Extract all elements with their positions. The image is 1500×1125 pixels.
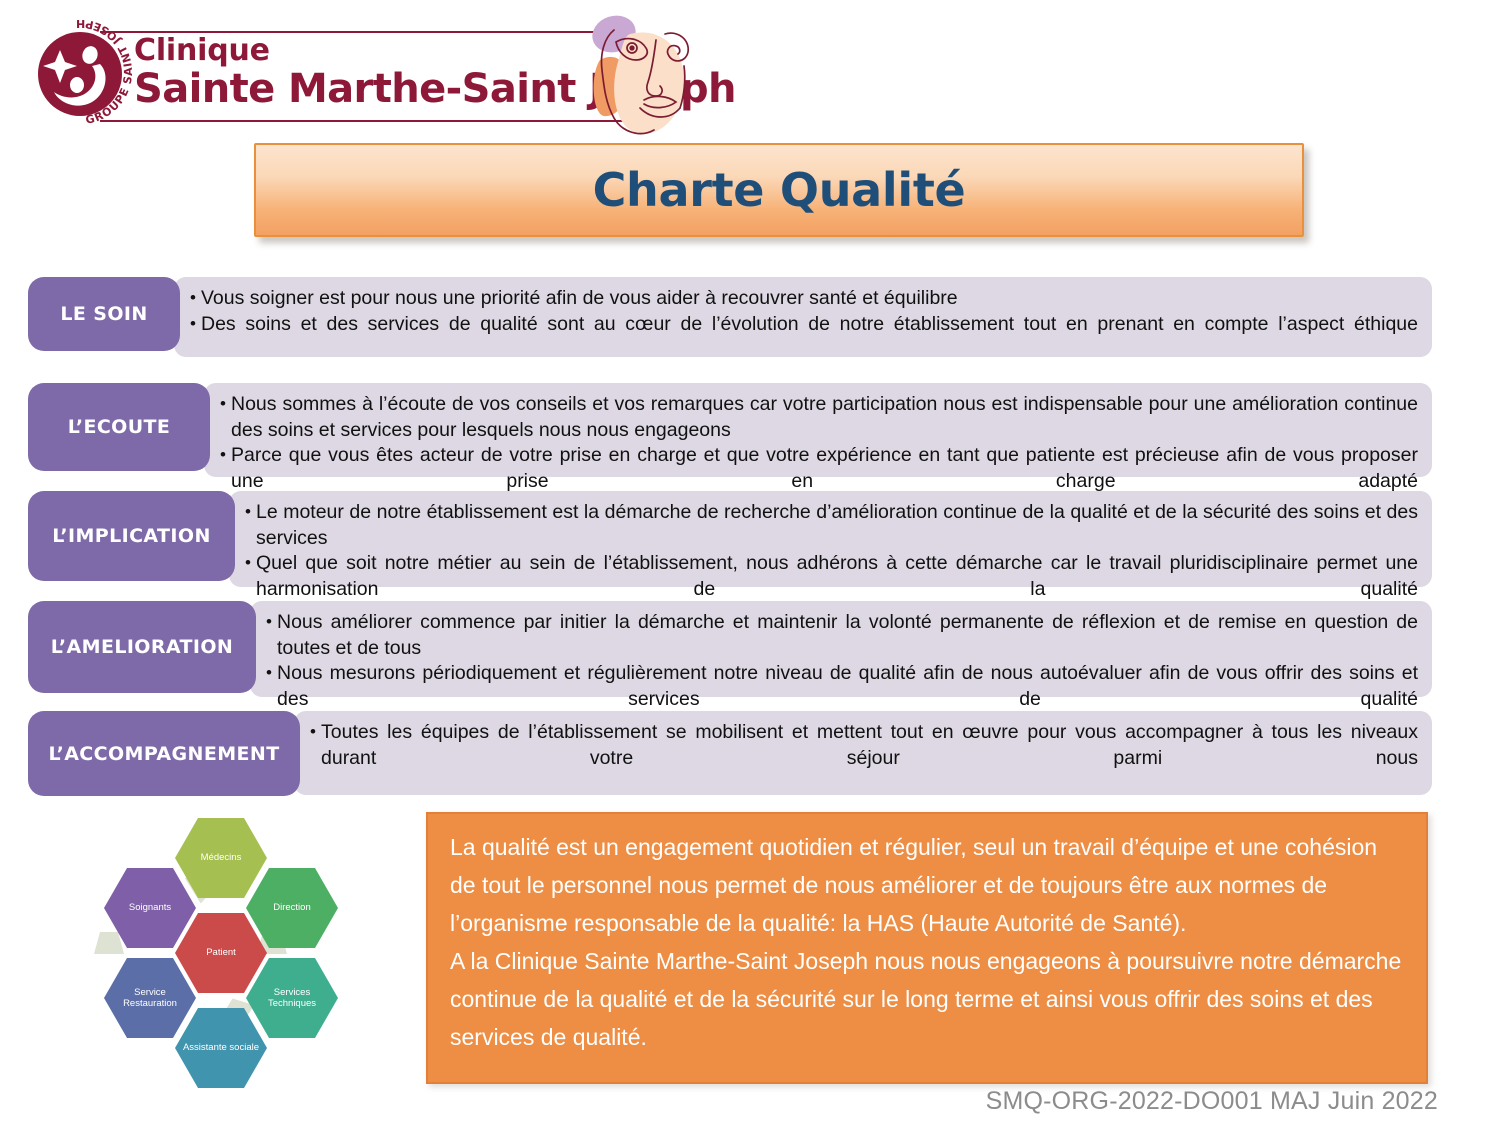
principle-label-text: LE SOIN — [60, 303, 147, 325]
logo-line-name: Sainte Marthe-Saint Joseph — [134, 67, 604, 112]
bullet-list: Vous soigner est pour nous une priorité … — [190, 286, 1418, 363]
hex-connector — [94, 932, 124, 954]
hex-node-label: Assistante sociale — [179, 1042, 263, 1054]
stylized-face-icon — [570, 4, 720, 144]
logo-rule-bottom — [100, 120, 634, 122]
logo-wordmark: Clinique Sainte Marthe-Saint Joseph — [134, 34, 604, 112]
principle-content: Vous soigner est pour nous une priorité … — [174, 277, 1432, 357]
hex-node-label: Soignants — [125, 902, 175, 914]
hex-node-label: Patient — [202, 947, 240, 959]
principle-label-text: L’ECOUTE — [68, 416, 171, 438]
commitment-paragraph: A la Clinique Sainte Marthe-Saint Joseph… — [450, 942, 1404, 1056]
hex-node-services-techniques: Services Techniques — [246, 958, 338, 1038]
principle-label-limplication: L’IMPLICATION — [28, 491, 235, 581]
saint-joseph-emblem-icon: GROUPE SAINT JOSEPH — [14, 6, 146, 138]
logo-line-clinique: Clinique — [134, 34, 604, 67]
principle-label-text: L’IMPLICATION — [52, 525, 211, 547]
bullet-item: Vous soigner est pour nous une priorité … — [190, 286, 1418, 312]
bullet-item: Nous sommes à l’écoute de vos conseils e… — [220, 392, 1418, 443]
commitment-paragraph: La qualité est un engagement quotidien e… — [450, 828, 1404, 942]
commitment-statement-box: La qualité est un engagement quotidien e… — [426, 812, 1428, 1084]
hex-node-patient: Patient — [175, 913, 267, 993]
page-title: Charte Qualité — [593, 163, 966, 217]
bullet-item: Des soins et des services de qualité son… — [190, 312, 1418, 363]
bullet-item: Toutes les équipes de l’établissement se… — [310, 720, 1418, 797]
principle-label-lamelioration: L’AMELIORATION — [28, 601, 256, 693]
principle-content: Toutes les équipes de l’établissement se… — [294, 711, 1432, 795]
principle-label-text: L’ACCOMPAGNEMENT — [48, 743, 279, 765]
hex-node-label: Médecins — [197, 852, 246, 864]
principle-content: Nous sommes à l’écoute de vos conseils e… — [204, 383, 1432, 477]
stakeholder-hex-diagram: Médecins Direction Services Techniques A… — [58, 812, 408, 1098]
hex-node-service-restauration: Service Restauration — [104, 958, 196, 1038]
hex-node-direction: Direction — [246, 868, 338, 948]
hex-node-label: Services Techniques — [246, 987, 338, 1010]
hex-node-medecins: Médecins — [175, 818, 267, 898]
principle-label-lecoute: L’ECOUTE — [28, 383, 210, 471]
hex-node-label: Direction — [269, 902, 315, 914]
bullet-item: Nous améliorer commence par initier la d… — [266, 610, 1418, 661]
bullet-item: Le moteur de notre établissement est la … — [245, 500, 1418, 551]
principle-label-laccompagnement: L’ACCOMPAGNEMENT — [28, 711, 300, 796]
principle-label-le-soin: LE SOIN — [28, 277, 180, 351]
document-reference: SMQ-ORG-2022-DO001 MAJ Juin 2022 — [986, 1087, 1438, 1116]
hex-node-label: Service Restauration — [104, 987, 196, 1010]
principle-content: Le moteur de notre établissement est la … — [229, 491, 1432, 587]
clinic-logo-banner: GROUPE SAINT JOSEPH Clinique Sainte Mart… — [14, 4, 704, 140]
hex-node-assistante-sociale: Assistante sociale — [175, 1008, 267, 1088]
principle-label-text: L’AMELIORATION — [51, 636, 233, 658]
page-title-banner: Charte Qualité — [254, 143, 1304, 237]
principle-content: Nous améliorer commence par initier la d… — [250, 601, 1432, 697]
bullet-list: Toutes les équipes de l’établissement se… — [310, 720, 1418, 797]
